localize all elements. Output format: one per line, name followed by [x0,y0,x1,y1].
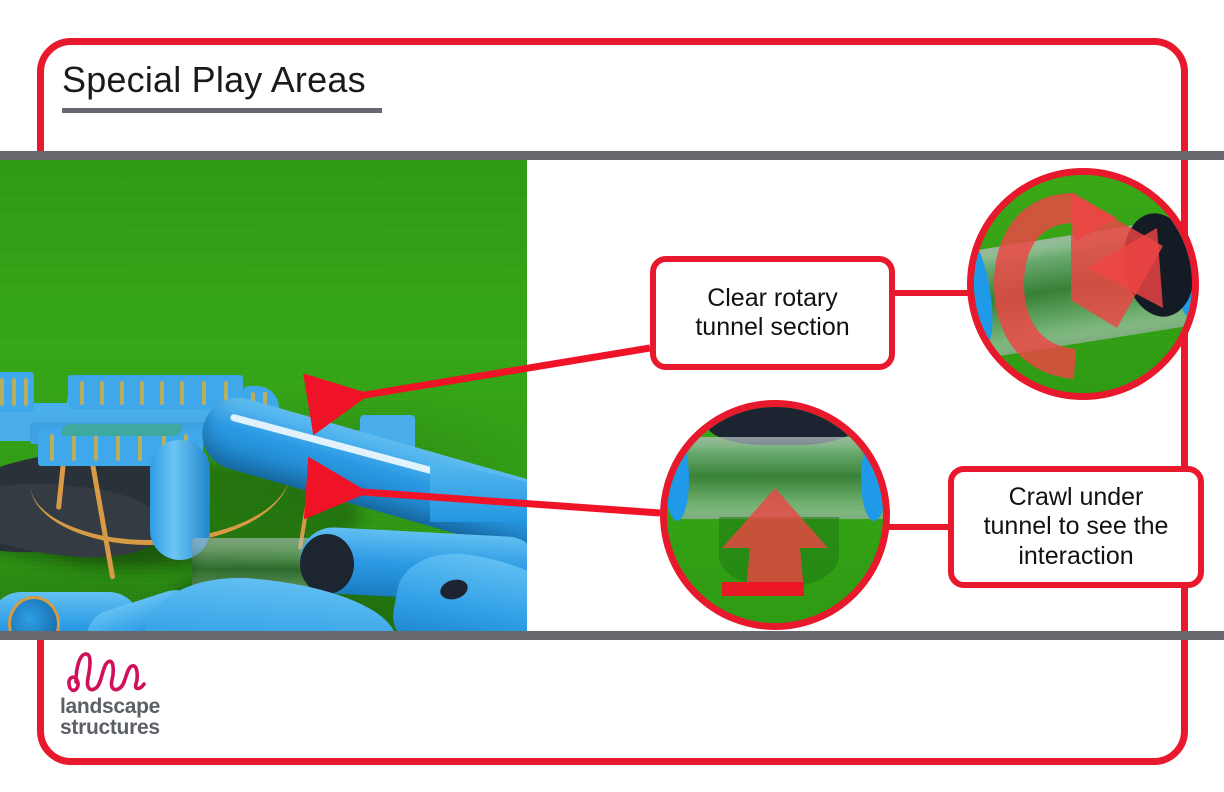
inset-crawl-detail [660,400,890,630]
callout-crawl-line1: Crawl under [1009,483,1144,511]
callout-crawl-text: Crawl under tunnel to see the interactio… [984,483,1169,572]
callout-rotary-line1: Clear rotary [707,284,838,312]
logo-line-structures: structures [60,717,240,738]
tunnel-dark-opening [300,534,354,594]
up-arrow-icon [660,400,890,630]
callout-rotary-text: Clear rotary tunnel section [695,284,849,343]
page-title: Special Play Areas [62,60,762,106]
bottom-divider-bar [0,631,1224,640]
title-block: Special Play Areas [62,60,762,113]
playground-photo [0,160,527,631]
landscape-structures-logo: landscape structures [60,648,240,739]
callout-crawl-line3: interaction [1018,542,1133,570]
callout-clear-rotary-tunnel[interactable]: Clear rotary tunnel section [650,256,895,370]
connector-crawl [884,524,954,530]
deck-panel [60,424,185,436]
logo-squiggle-icon [60,648,152,694]
callout-crawl-under-tunnel[interactable]: Crawl under tunnel to see the interactio… [948,466,1204,588]
top-divider-bar [0,151,1224,160]
logo-wordmark: landscape structures [60,696,240,739]
title-underline [62,108,382,113]
callout-rotary-line2: tunnel section [695,313,849,341]
inset-rotary-detail [967,168,1199,400]
logo-line-landscape: landscape [60,696,240,717]
callout-crawl-line2: tunnel to see the [984,512,1169,540]
connector-rotary [889,290,973,296]
railing-left [0,372,34,412]
slide-canvas: Special Play Areas [0,0,1224,792]
rotation-arrow-icon [967,168,1199,400]
